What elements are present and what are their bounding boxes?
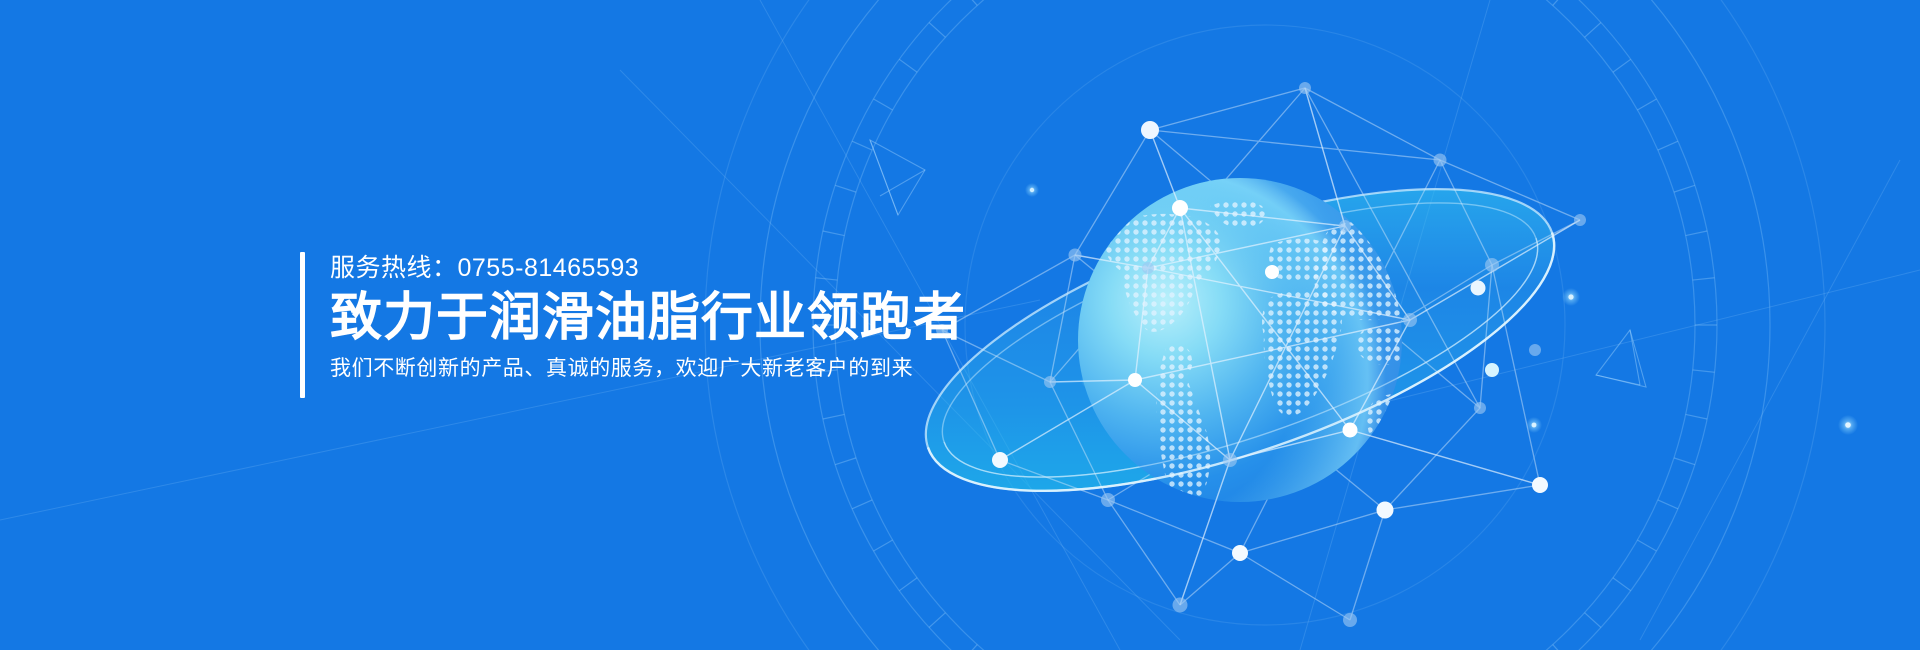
banner-text-block: 服务热线：0755-81465593 致力于润滑油脂行业领跑者 我们不断创新的产… [300, 252, 966, 398]
service-hotline: 服务热线：0755-81465593 [330, 252, 966, 284]
banner-headline: 致力于润滑油脂行业领跑者 [330, 286, 966, 350]
banner-subtitle: 我们不断创新的产品、真诚的服务，欢迎广大新老客户的到来 [330, 354, 966, 384]
accent-bar [300, 252, 305, 398]
globe-network-illustration [880, 30, 1640, 650]
hero-banner: 服务热线：0755-81465593 致力于润滑油脂行业领跑者 我们不断创新的产… [0, 0, 1920, 650]
